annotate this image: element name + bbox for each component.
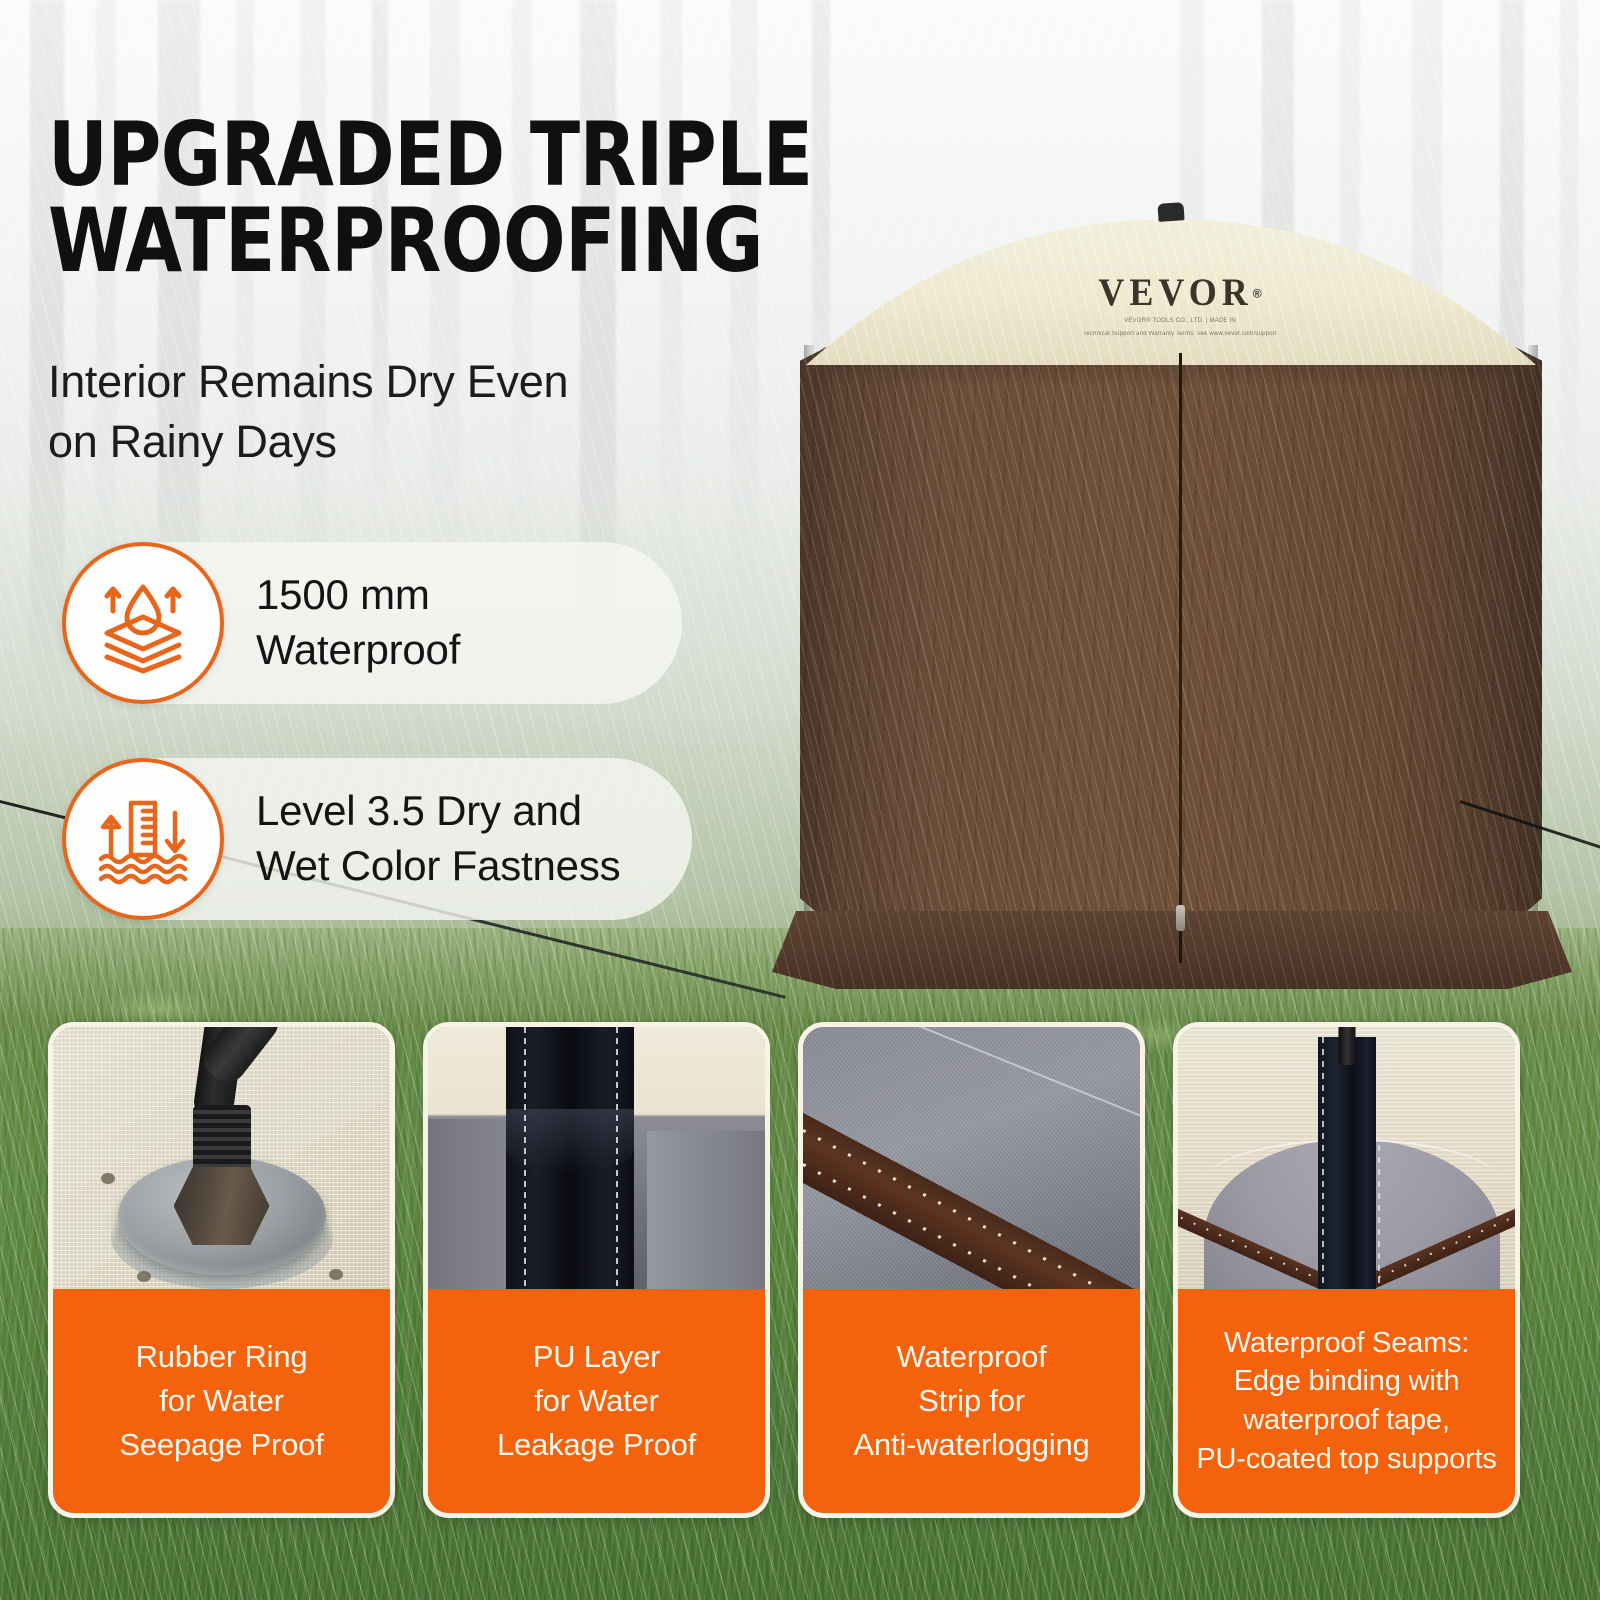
tent-body-rain-texture	[800, 335, 1542, 975]
logo-fine-print-line1: VEVOR® TOOLS CO., LTD. | MADE IN	[760, 317, 1600, 326]
feature-text-line-1: Level 3.5 Dry and	[256, 784, 620, 839]
detail-card-caption: Waterproof Seams: Edge binding with wate…	[1178, 1289, 1515, 1513]
tent-roof-knob	[1157, 202, 1184, 222]
caption-line-2: for Water	[159, 1379, 284, 1423]
fabric-speck	[329, 1269, 343, 1280]
caption-line-2: for Water	[534, 1379, 659, 1423]
detail-card-waterproof-seams: Waterproof Seams: Edge binding with wate…	[1173, 1022, 1520, 1518]
detail-card-caption: Waterproof Strip for Anti-waterlogging	[803, 1289, 1140, 1513]
hex-nut	[174, 1167, 270, 1245]
caption-line-3: Seepage Proof	[119, 1423, 323, 1467]
feature-pill-text: 1500 mm Waterproof	[256, 568, 460, 677]
caption-line-1: Waterproof Seams:	[1224, 1324, 1469, 1363]
vevor-wordmark: VEVOR	[1098, 269, 1252, 314]
caption-line-3: Leakage Proof	[497, 1423, 696, 1467]
caption-line-2: Strip for	[918, 1379, 1025, 1423]
product-tent-image: VEVOR® VEVOR® TOOLS CO., LTD. | MADE IN …	[760, 195, 1600, 985]
feature-text-line-2: Waterproof	[256, 623, 460, 678]
pu-coated-fabric-right	[647, 1131, 765, 1299]
headline-line-2: WATERPROOFING	[48, 198, 811, 284]
detail-card-waterproof-strip: Waterproof Strip for Anti-waterlogging	[798, 1022, 1145, 1518]
headline-line-1: UPGRADED TRIPLE	[48, 112, 811, 198]
caption-line-1: Rubber Ring	[136, 1335, 308, 1379]
rubber-ring-grommet-photo	[53, 1027, 390, 1299]
color-fastness-gauge-icon	[62, 758, 224, 920]
top-support-pole	[1338, 1027, 1355, 1065]
feature-pill-text: Level 3.5 Dry and Wet Color Fastness	[256, 784, 620, 893]
vevor-logo: VEVOR® VEVOR® TOOLS CO., LTD. | MADE IN …	[760, 271, 1600, 338]
feature-pill-color-fastness: Level 3.5 Dry and Wet Color Fastness	[62, 758, 692, 920]
caption-line-3: waterproof tape,	[1243, 1401, 1449, 1440]
waterproof-seams-photo	[1178, 1027, 1515, 1299]
caption-line-4: PU-coated top supports	[1196, 1440, 1496, 1479]
tent-skirt-texture	[772, 911, 1572, 989]
subheadline-line-1: Interior Remains Dry Even	[48, 352, 748, 412]
waterproof-strip-photo	[803, 1027, 1140, 1299]
headline-block: UPGRADED TRIPLE WATERPROOFING	[48, 112, 868, 284]
stitch-line-left	[524, 1027, 526, 1299]
fabric-speck	[101, 1173, 115, 1184]
caption-line-3: Anti-waterlogging	[853, 1423, 1089, 1467]
sleeve-stitch-left	[1322, 1037, 1324, 1299]
detail-card-pu-layer: PU Layer for Water Leakage Proof	[423, 1022, 770, 1518]
subheadline-block: Interior Remains Dry Even on Rainy Days	[48, 352, 748, 472]
detail-card-caption: PU Layer for Water Leakage Proof	[428, 1289, 765, 1513]
detail-card-caption: Rubber Ring for Water Seepage Proof	[53, 1289, 390, 1513]
pu-layer-seam-photo	[428, 1027, 765, 1299]
detail-card-rubber-ring: Rubber Ring for Water Seepage Proof	[48, 1022, 395, 1518]
feature-text-line-1: 1500 mm	[256, 568, 460, 623]
stitch-line-right	[616, 1027, 618, 1299]
pole-sleeve	[1318, 1037, 1376, 1299]
registered-mark: ®	[1253, 287, 1262, 301]
feature-pill-waterproof: 1500 mm Waterproof	[62, 542, 682, 704]
caption-line-1: Waterproof	[896, 1335, 1046, 1379]
feature-text-line-2: Wet Color Fastness	[256, 839, 620, 894]
tent-zipper	[1179, 353, 1182, 963]
tent-zipper-pull	[1176, 905, 1185, 931]
logo-fine-print-line2: Technical Support and Warranty Terms: se…	[760, 330, 1600, 339]
caption-line-1: PU Layer	[533, 1335, 661, 1379]
sleeve-stitch-right	[1378, 1037, 1380, 1299]
fabric-speck	[137, 1271, 151, 1282]
caption-line-2: Edge binding with	[1234, 1362, 1460, 1401]
detail-cards-row: Rubber Ring for Water Seepage Proof PU L…	[0, 1022, 1600, 1532]
subheadline-line-2: on Rainy Days	[48, 412, 748, 472]
waterproof-layers-icon	[62, 542, 224, 704]
